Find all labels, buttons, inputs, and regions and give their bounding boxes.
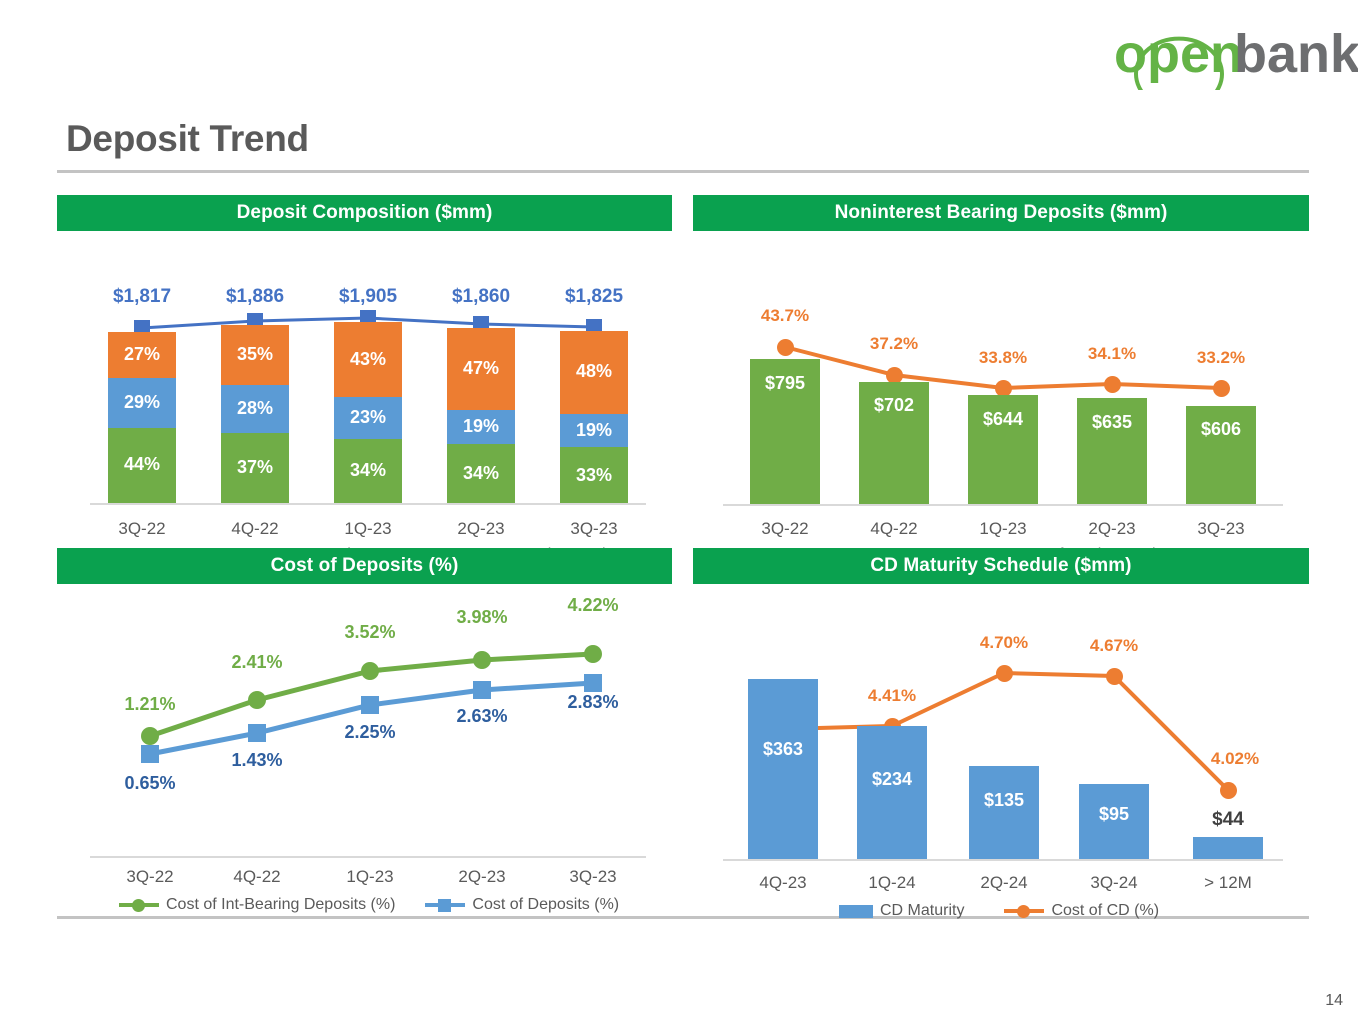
bar-cd-maturity-4 bbox=[1193, 837, 1263, 859]
pct-label-1: 37.2% bbox=[844, 334, 944, 354]
panel-nonint-bearing: Noninterest Bearing Deposits ($mm) 43.7%… bbox=[693, 195, 1309, 571]
x-tick-4: 3Q-23 bbox=[543, 867, 643, 887]
legend-cd-maturity: CD Maturity Cost of CD (%) bbox=[839, 902, 1159, 920]
bar-nonint-1: $702 bbox=[859, 382, 929, 504]
cost-cd-marker-4 bbox=[1220, 782, 1237, 799]
bar-cd-maturity-3: $95 bbox=[1079, 784, 1149, 859]
bar-label-dda-3: 34% bbox=[447, 463, 515, 484]
pct-label-4: 33.2% bbox=[1171, 348, 1271, 368]
bar-label-mma-1: 28% bbox=[221, 398, 289, 419]
cost-cd-label-2: 4.70% bbox=[954, 633, 1054, 653]
bar-cd-maturity-2: $135 bbox=[969, 766, 1039, 859]
x-tick-1: 4Q-22 bbox=[205, 519, 305, 539]
cost-deposits-marker-1 bbox=[248, 724, 266, 742]
cost-deposits-label-1: 1.43% bbox=[207, 750, 307, 771]
total-label-3: $1,860 bbox=[426, 286, 536, 308]
cost-cd-marker-3 bbox=[1106, 668, 1123, 685]
legend-swatch-blue-line bbox=[425, 898, 465, 912]
x-tick-3: 2Q-23 bbox=[1062, 519, 1162, 539]
pct-label-2: 33.8% bbox=[953, 348, 1053, 368]
bar-label-dda-2: 34% bbox=[334, 460, 402, 481]
int-bearing-label-0: 1.21% bbox=[100, 694, 200, 715]
page-title: Deposit Trend bbox=[66, 118, 309, 160]
legend-item-int-bearing: Cost of Int-Bearing Deposits (%) bbox=[119, 896, 395, 914]
openbank-logo: open bank bbox=[1110, 14, 1358, 90]
legend-label-cost-of-cd: Cost of CD (%) bbox=[1051, 902, 1159, 920]
bar-dda-0: 44% bbox=[108, 428, 176, 503]
bar-nonint-0: $795 bbox=[750, 359, 820, 504]
bar-label-cd-4: 48% bbox=[560, 361, 628, 382]
pct-label-3: 34.1% bbox=[1062, 344, 1162, 364]
x-tick-4: 3Q-23 bbox=[1171, 519, 1271, 539]
int-bearing-label-1: 2.41% bbox=[207, 652, 307, 673]
x-axis-line bbox=[90, 503, 646, 505]
total-label-0: $1,817 bbox=[87, 286, 197, 308]
x-tick-1: 4Q-22 bbox=[207, 867, 307, 887]
total-label-2: $1,905 bbox=[313, 286, 423, 308]
panel-title-cd-maturity: CD Maturity Schedule ($mm) bbox=[693, 548, 1309, 584]
cost-cd-label-3: 4.67% bbox=[1064, 636, 1164, 656]
svg-text:bank: bank bbox=[1234, 24, 1358, 84]
svg-text:open: open bbox=[1114, 24, 1243, 84]
bar-label-cd-maturity-3: $95 bbox=[1079, 804, 1149, 825]
x-axis-line bbox=[90, 856, 646, 858]
legend-item-cost-of-deposits: Cost of Deposits (%) bbox=[425, 896, 619, 914]
int-bearing-marker-2 bbox=[361, 662, 379, 680]
bar-cd-maturity-1: $234 bbox=[857, 726, 927, 859]
int-bearing-marker-0 bbox=[141, 727, 159, 745]
int-bearing-marker-4 bbox=[584, 645, 602, 663]
bar-mma-2: 23% bbox=[334, 397, 402, 439]
legend-cost-of-deposits: Cost of Int-Bearing Deposits (%) Cost of… bbox=[119, 896, 619, 914]
bar-cd-4: 48% bbox=[560, 331, 628, 414]
panel-title-nonint-bearing: Noninterest Bearing Deposits ($mm) bbox=[693, 195, 1309, 231]
panel-cd-maturity: CD Maturity Schedule ($mm) 4.39% 4.41% 4… bbox=[693, 548, 1309, 924]
cost-deposits-label-2: 2.25% bbox=[320, 722, 420, 743]
bar-cd-0: 27% bbox=[108, 332, 176, 378]
legend-swatch-orange-line bbox=[1004, 904, 1044, 918]
x-tick-2: 1Q-23 bbox=[318, 519, 418, 539]
legend-item-cost-of-cd: Cost of CD (%) bbox=[1004, 902, 1159, 920]
cost-cd-marker-2 bbox=[996, 665, 1013, 682]
bar-label-dda-4: 33% bbox=[560, 465, 628, 486]
cost-deposits-marker-3 bbox=[473, 681, 491, 699]
bar-cd-1: 35% bbox=[221, 325, 289, 385]
x-tick-3: 2Q-23 bbox=[432, 867, 532, 887]
x-tick-3: 2Q-23 bbox=[431, 519, 531, 539]
panel-title-cost-of-deposits: Cost of Deposits (%) bbox=[57, 548, 672, 584]
bar-cd-maturity-0: $363 bbox=[748, 679, 818, 859]
legend-label-int-bearing: Cost of Int-Bearing Deposits (%) bbox=[166, 896, 395, 914]
int-bearing-marker-3 bbox=[473, 651, 491, 669]
cost-cd-label-4: 4.02% bbox=[1185, 749, 1285, 769]
bar-label-cd-maturity-2: $135 bbox=[969, 790, 1039, 811]
int-bearing-marker-1 bbox=[248, 691, 266, 709]
x-tick-2: 1Q-23 bbox=[953, 519, 1053, 539]
legend-item-cd-maturity: CD Maturity bbox=[839, 902, 964, 920]
cost-deposits-marker-2 bbox=[361, 696, 379, 714]
bar-dda-2: 34% bbox=[334, 439, 402, 503]
bar-label-dda-1: 37% bbox=[221, 457, 289, 478]
cost-deposits-label-0: 0.65% bbox=[100, 773, 200, 794]
x-tick-4: 3Q-23 bbox=[544, 519, 644, 539]
legend-swatch-blue bbox=[839, 905, 873, 918]
bar-label-nonint-4: $606 bbox=[1186, 419, 1256, 440]
int-bearing-label-3: 3.98% bbox=[432, 607, 532, 628]
bar-label-cd-2: 43% bbox=[334, 349, 402, 370]
x-tick-2: 1Q-23 bbox=[320, 867, 420, 887]
chart-deposit-composition: $1,817 $1,886 $1,905 $1,860 $1,825 27% 2… bbox=[57, 231, 672, 571]
cost-deposits-marker-4 bbox=[584, 674, 602, 692]
x-axis-line bbox=[723, 504, 1283, 506]
bar-mma-0: 29% bbox=[108, 378, 176, 428]
total-label-1: $1,886 bbox=[200, 286, 310, 308]
cost-deposits-label-4: 2.83% bbox=[543, 692, 643, 713]
chart-cd-maturity: 4.39% 4.41% 4.70% 4.67% 4.02% $363 $234 … bbox=[693, 584, 1309, 924]
int-bearing-label-4: 4.22% bbox=[543, 595, 643, 616]
bar-label-mma-0: 29% bbox=[108, 392, 176, 413]
chart-nonint-bearing: 43.7% 37.2% 33.8% 34.1% 33.2% $795 $702 … bbox=[693, 231, 1309, 571]
title-divider bbox=[57, 170, 1309, 173]
x-tick-4: > 12M bbox=[1178, 873, 1278, 893]
bar-mma-4: 19% bbox=[560, 414, 628, 447]
cost-deposits-marker-0 bbox=[141, 745, 159, 763]
bar-label-mma-3: 19% bbox=[447, 416, 515, 437]
slide: open bank Deposit Trend 14 Deposit Compo… bbox=[0, 0, 1365, 1024]
bar-label-cd-0: 27% bbox=[108, 344, 176, 365]
bar-nonint-2: $644 bbox=[968, 395, 1038, 504]
x-tick-0: 3Q-22 bbox=[735, 519, 835, 539]
x-axis-line bbox=[723, 859, 1283, 861]
bar-label-nonint-1: $702 bbox=[859, 395, 929, 416]
bar-cd-3: 47% bbox=[447, 328, 515, 410]
bar-nonint-4: $606 bbox=[1186, 406, 1256, 504]
panel-cost-of-deposits: Cost of Deposits (%) 1.21% 2.41% 3.52% 3… bbox=[57, 548, 672, 924]
bar-mma-1: 28% bbox=[221, 385, 289, 433]
panel-deposit-composition: Deposit Composition ($mm) $1,817 $1,886 … bbox=[57, 195, 672, 571]
bar-label-mma-2: 23% bbox=[334, 407, 402, 428]
page-number: 14 bbox=[1325, 992, 1343, 1010]
bar-label-cd-maturity-4: $44 bbox=[1178, 809, 1278, 831]
cost-cd-label-1: 4.41% bbox=[842, 686, 942, 706]
pct-label-0: 43.7% bbox=[735, 306, 835, 326]
pct-marker-0 bbox=[777, 339, 794, 356]
pct-marker-4 bbox=[1213, 380, 1230, 397]
bar-dda-3: 34% bbox=[447, 444, 515, 503]
legend-label-cost-of-deposits: Cost of Deposits (%) bbox=[472, 896, 619, 914]
x-tick-3: 3Q-24 bbox=[1064, 873, 1164, 893]
x-tick-2: 2Q-24 bbox=[954, 873, 1054, 893]
legend-swatch-green-line bbox=[119, 898, 159, 912]
bar-dda-4: 33% bbox=[560, 447, 628, 503]
legend-label-cd-maturity: CD Maturity bbox=[880, 902, 964, 920]
x-tick-1: 4Q-22 bbox=[844, 519, 944, 539]
bar-label-cd-3: 47% bbox=[447, 358, 515, 379]
cost-deposits-label-3: 2.63% bbox=[432, 706, 532, 727]
bar-label-nonint-0: $795 bbox=[750, 373, 820, 394]
bar-dda-1: 37% bbox=[221, 433, 289, 503]
bar-cd-2: 43% bbox=[334, 322, 402, 397]
int-bearing-label-2: 3.52% bbox=[320, 622, 420, 643]
x-tick-0: 3Q-22 bbox=[100, 867, 200, 887]
bar-label-nonint-2: $644 bbox=[968, 409, 1038, 430]
chart-cost-of-deposits: 1.21% 2.41% 3.52% 3.98% 4.22% 0.65% 1.43… bbox=[57, 584, 672, 924]
bar-label-cd-maturity-0: $363 bbox=[748, 739, 818, 760]
bar-label-nonint-3: $635 bbox=[1077, 412, 1147, 433]
bar-nonint-3: $635 bbox=[1077, 398, 1147, 504]
bar-label-cd-1: 35% bbox=[221, 344, 289, 365]
x-tick-1: 1Q-24 bbox=[842, 873, 942, 893]
bar-label-dda-0: 44% bbox=[108, 454, 176, 475]
total-label-4: $1,825 bbox=[539, 286, 649, 308]
bar-mma-3: 19% bbox=[447, 410, 515, 444]
x-tick-0: 3Q-22 bbox=[92, 519, 192, 539]
panel-title-deposit-composition: Deposit Composition ($mm) bbox=[57, 195, 672, 231]
bar-label-cd-maturity-1: $234 bbox=[857, 769, 927, 790]
pct-marker-3 bbox=[1104, 376, 1121, 393]
x-tick-0: 4Q-23 bbox=[733, 873, 833, 893]
bar-label-mma-4: 19% bbox=[560, 420, 628, 441]
